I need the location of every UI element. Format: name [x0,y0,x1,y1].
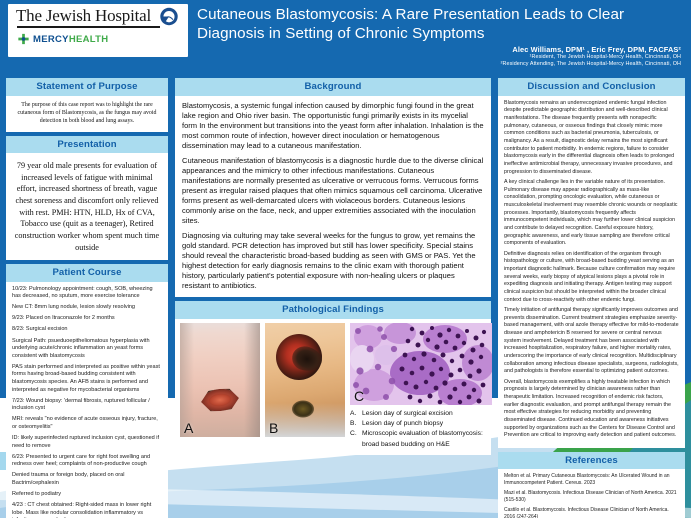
discussion-paragraph: Definitive diagnosis relies on identific… [504,251,679,305]
poster-title: Cutaneous Blastomycosis: A Rare Presenta… [197,6,677,43]
patient-course-panel: Patient Course 10/23: Pulmonology appoin… [6,264,168,518]
statement-of-purpose-text: The purpose of this case report was to h… [6,96,168,132]
clinical-photo-b: B [265,323,345,437]
background-paragraph: Cutaneous manifestation of blastomycosis… [182,156,484,226]
discussion-paragraph: A key clinical challenge lies in the var… [504,179,679,248]
list-item: Denied trauma or foreign body, placed on… [12,472,162,487]
caption-item-c: C. Microscopic evaluation of blastomycos… [350,429,492,439]
presentation-panel: Presentation 79 year old male presents f… [6,136,168,261]
background-paragraph: Diagnosing via culturing may take severa… [182,231,484,291]
discussion-paragraph: Timely initiation of antifungal therapy … [504,307,679,376]
list-item: New CT: 8mm lung nodule, lesion slowly r… [12,304,162,312]
list-item: 10/23: Pulmonology appointment: cough, S… [12,286,162,301]
caption-a-text: Lesion day of surgical excision [362,409,453,419]
mercy-cross-icon [17,33,30,46]
discussion-paragraph: Overall, blastomycosis exemplifies a hig… [504,379,679,441]
list-item: 8/23: Surgical excision [12,326,162,334]
histology-photo-c: C [350,323,492,405]
author-block: Alec Williams, DPM¹ , Eric Frey, DPM, FA… [501,45,681,69]
list-item: 9/23: Placed on Itraconazole for 2 month… [12,315,162,323]
left-column: Statement of Purpose The purpose of this… [6,78,168,518]
author-affiliation-2: ²Residency Attending, The Jewish Hospita… [501,61,681,68]
background-paragraph: Blastomycosis, a systemic fungal infecti… [182,101,484,151]
references-heading: References [498,452,685,470]
list-item: ID: likely superinfected ruptured inclus… [12,435,162,450]
mercy-health-wordmark: MERCYHEALTH [33,34,108,45]
right-column: Discussion and Conclusion Blastomycosis … [498,78,685,518]
background-text: Blastomycosis, a systemic fungal infecti… [175,96,491,298]
reference-item: Castilo et al. Blastomycosis. Infectious… [504,507,679,518]
mercy-word: MERCY [33,34,69,45]
patient-course-list: 10/23: Pulmonology appointment: cough, S… [6,282,168,518]
logo-underline [17,26,160,28]
photo-b-crust [292,401,314,418]
discussion-body: Blastomycosis remains an underrecognized… [498,96,685,448]
reference-item: Melton et al. Primary Cutaneous Blastomy… [504,473,679,487]
pathological-findings-heading: Pathological Findings [175,301,491,319]
caption-item-a: A. Lesion day of surgical excision [350,409,492,419]
caption-item-b: B. Lesion day of punch biopsy [350,419,492,429]
hospital-logo: The Jewish Hospital MERCYHEALTH [8,4,188,57]
statement-of-purpose-heading: Statement of Purpose [6,78,168,96]
photo-a-lesion-core [208,393,231,407]
caption-a-key: A. [350,409,358,419]
background-panel: Background Blastomycosis, a systemic fun… [175,78,491,297]
caption-b-text: Lesion day of punch biopsy [362,419,443,429]
photo-a-lesion [200,387,240,413]
caption-c-text: Microscopic evaluation of blastomycosis: [362,429,483,439]
presentation-heading: Presentation [6,136,168,154]
patient-course-heading: Patient Course [6,264,168,282]
caption-c-key: C. [350,429,358,439]
hospital-emblem-icon [159,7,179,26]
caption-b-key: B. [350,419,358,429]
pathological-findings-panel: Pathological Findings A [175,301,491,455]
references-panel: References Melton et al. Primary Cutaneo… [498,452,685,518]
health-word: HEALTH [69,34,109,45]
caption-c-continuation: broad based budding on H&E [350,440,492,450]
references-list: Melton et al. Primary Cutaneous Blastomy… [498,469,685,518]
photo-c-label: C [354,388,364,404]
reference-item: Mazi et al. Blastomycosis. Infectious Di… [504,490,679,504]
figure-caption-list: A. Lesion day of surgical excision B. Le… [350,409,492,450]
list-item: MRI: reveals "no evidence of acute osseo… [12,416,162,431]
pathological-findings-body: A B [175,319,491,455]
list-item: 7/23: Wound biopsy: 'dermal fibrosis, ru… [12,398,162,413]
list-item: 6/23: Presented to urgent care for right… [12,454,162,469]
background-heading: Background [175,78,491,96]
list-item: 4/23 : CT chest obtained: Right-sided ma… [12,502,162,518]
discussion-heading: Discussion and Conclusion [498,78,685,96]
figure-row: A B [180,323,486,450]
mercy-health-logo: MERCYHEALTH [17,33,108,46]
list-item: PAS stain performed and interpreted as p… [12,364,162,395]
photo-b-label: B [269,420,278,436]
author-affiliation-1: ¹Resident, The Jewish Hospital-Mercy Hea… [501,54,681,61]
poster-canvas: The Jewish Hospital MERCYHEALTH Cutaneou… [0,0,691,518]
discussion-paragraph: Blastomycosis remains an underrecognized… [504,100,679,177]
statement-of-purpose-panel: Statement of Purpose The purpose of this… [6,78,168,132]
discussion-panel: Discussion and Conclusion Blastomycosis … [498,78,685,448]
photo-a-label: A [184,420,193,436]
presentation-text: 79 year old male presents for evaluation… [6,153,168,260]
histology-slide-render [350,323,492,405]
middle-column: Background Blastomycosis, a systemic fun… [175,78,491,459]
list-item: Referred to podiatry [12,491,162,499]
photo-a-shading-right [244,323,260,437]
author-names: Alec Williams, DPM¹ , Eric Frey, DPM, FA… [501,45,681,54]
list-item: Surgical Path: psueduoepitheliomatous hy… [12,338,162,361]
hospital-logo-text: The Jewish Hospital [16,6,151,26]
clinical-photo-a: A [180,323,260,437]
histology-and-caption: C A. Lesion day of surgical excision B. … [350,323,492,450]
poster-header: The Jewish Hospital MERCYHEALTH Cutaneou… [0,0,691,72]
